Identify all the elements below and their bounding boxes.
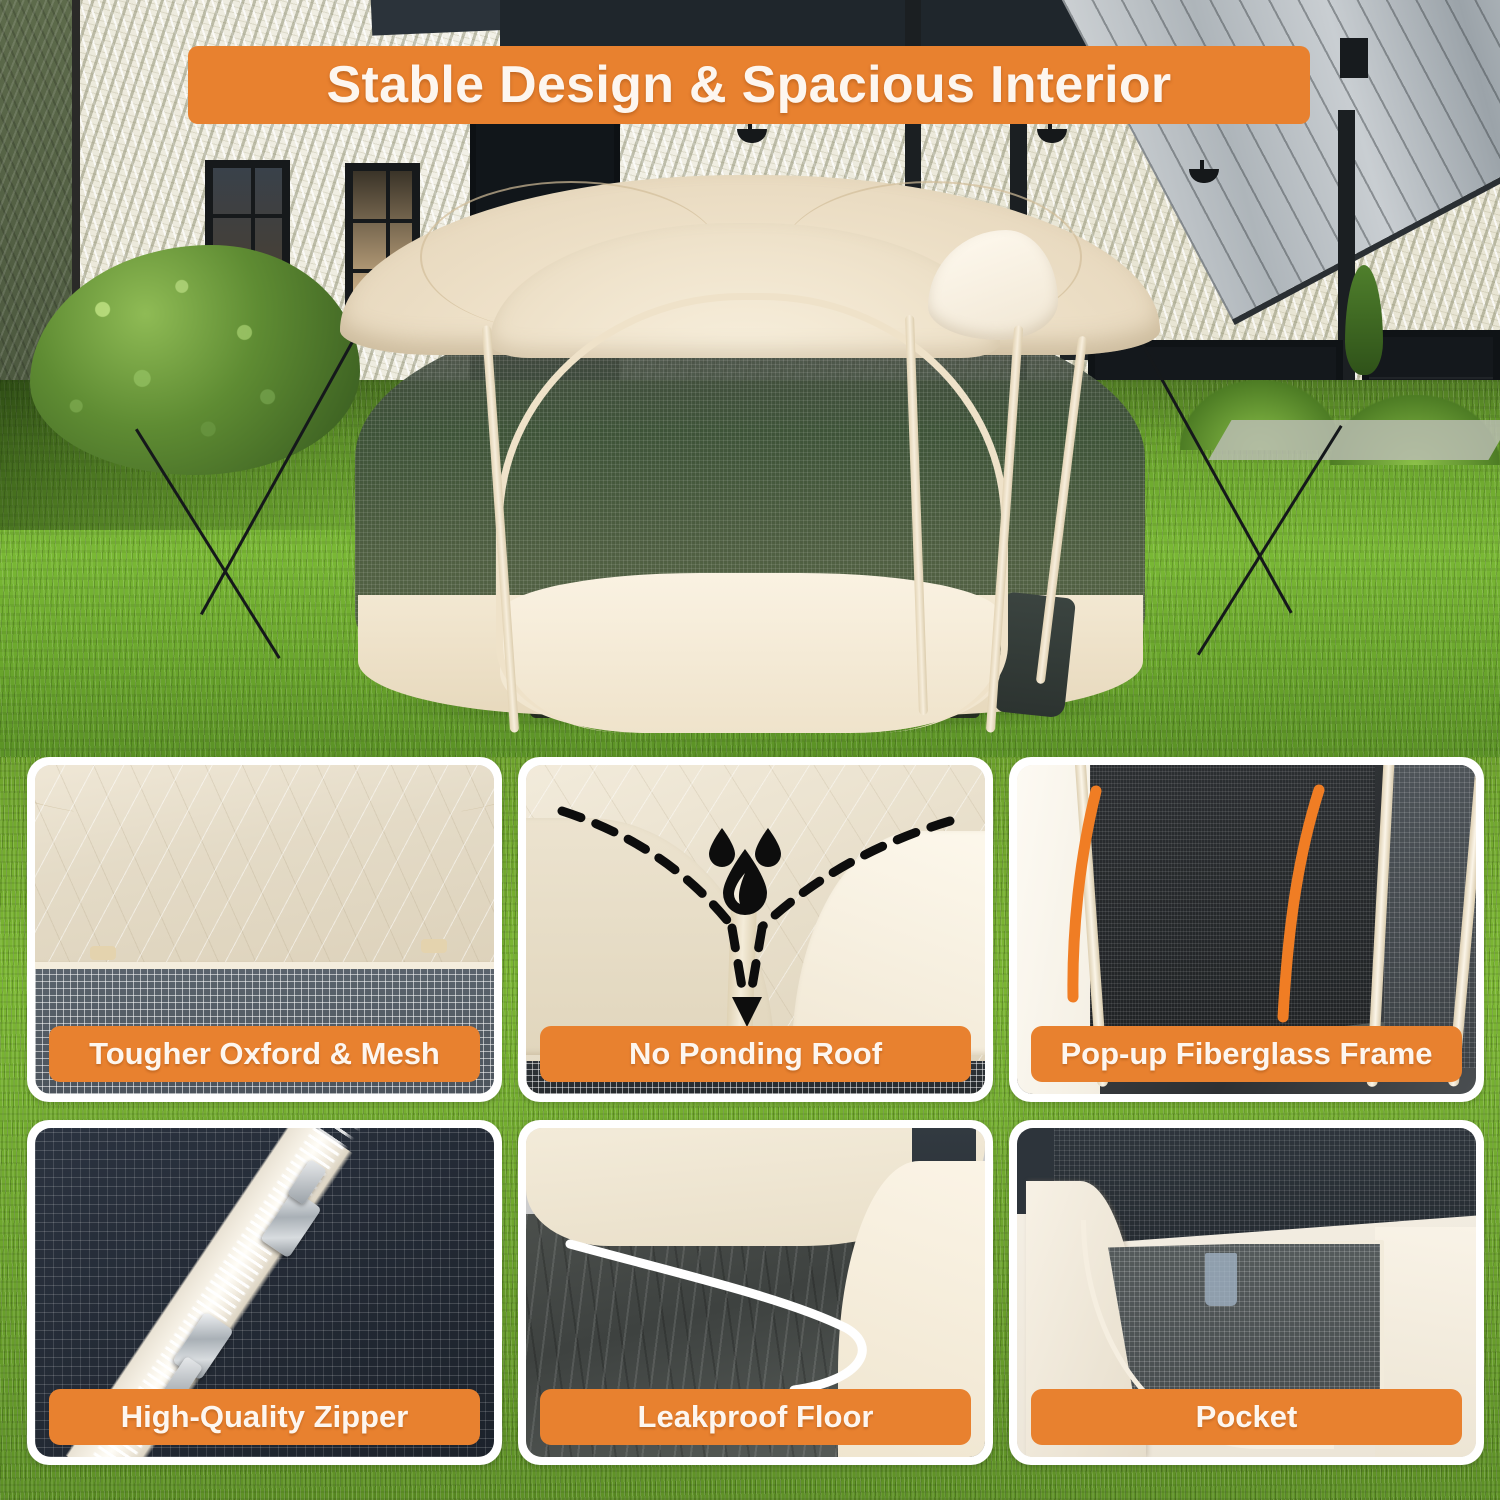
feature-cards-grid: Tougher Oxford & Mesh	[0, 757, 1500, 1500]
feature-card-no-ponding-roof[interactable]: No Ponding Roof	[518, 757, 993, 1102]
feature-label-badge: Pocket	[1031, 1389, 1462, 1445]
hero-product-photo: Stable Design & Spacious Interior	[0, 0, 1500, 757]
feature-label-text: No Ponding Roof	[629, 1036, 882, 1072]
screen-house-tent	[300, 175, 1200, 715]
stone-walkway	[1208, 420, 1500, 460]
feature-label-badge: Pop-up Fiberglass Frame	[1031, 1026, 1462, 1082]
feature-card-high-quality-zipper[interactable]: High-Quality Zipper	[27, 1120, 502, 1465]
feature-card-pop-up-fiberglass-frame[interactable]: Pop-up Fiberglass Frame	[1009, 757, 1484, 1102]
feature-card-pocket[interactable]: Pocket	[1009, 1120, 1484, 1465]
feature-card-leakproof-floor[interactable]: Leakproof Floor	[518, 1120, 993, 1465]
feature-label-text: Tougher Oxford & Mesh	[89, 1036, 440, 1072]
feature-label-text: Pop-up Fiberglass Frame	[1060, 1036, 1432, 1072]
feature-label-text: High-Quality Zipper	[121, 1399, 409, 1435]
feature-label-text: Leakproof Floor	[638, 1399, 874, 1435]
feature-card-tougher-oxford-mesh[interactable]: Tougher Oxford & Mesh	[27, 757, 502, 1102]
feature-label-badge: Leakproof Floor	[540, 1389, 971, 1445]
feature-label-badge: Tougher Oxford & Mesh	[49, 1026, 480, 1082]
tent-door-frame	[496, 293, 1008, 733]
gable-vent	[1340, 38, 1368, 78]
wall-sconce-light	[1200, 160, 1204, 174]
page-title: Stable Design & Spacious Interior	[327, 55, 1172, 115]
headline-banner: Stable Design & Spacious Interior	[188, 46, 1310, 124]
feature-label-badge: High-Quality Zipper	[49, 1389, 480, 1445]
feature-label-badge: No Ponding Roof	[540, 1026, 971, 1082]
infographic-root: Stable Design & Spacious Interior Toughe…	[0, 0, 1500, 1500]
feature-label-text: Pocket	[1196, 1399, 1298, 1435]
